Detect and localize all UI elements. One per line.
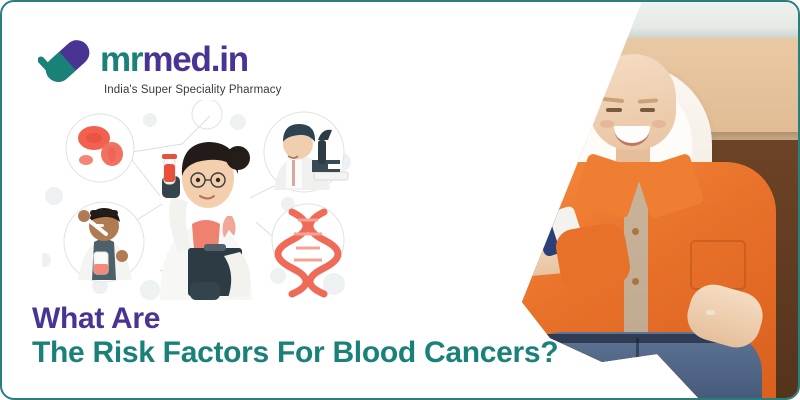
patient-cheek-left: [600, 120, 614, 128]
patient-eye-left: [606, 108, 622, 112]
logo-wordmark: mrmed.in: [100, 42, 248, 77]
power-cable-lower: [451, 152, 460, 242]
logo-tagline: India's Super Speciality Pharmacy: [104, 84, 281, 96]
wall-plate: [400, 90, 413, 110]
shirt-pocket: [690, 240, 746, 290]
iv-tube: [387, 152, 402, 272]
red-blood-cells-circle: [66, 114, 134, 182]
iv-pole: [406, 2, 415, 302]
patient-cheek-right: [652, 120, 666, 128]
finger-ring: [706, 310, 715, 315]
mrmed-blog-banner: mrmed.in India's Super Speciality Pharma…: [0, 0, 800, 400]
headline-line-1: What Are: [32, 302, 558, 336]
power-cable: [472, 32, 491, 163]
headline: What Are The Risk Factors For Blood Canc…: [32, 302, 558, 370]
mrmed-logo[interactable]: mrmed.in India's Super Speciality Pharma…: [38, 38, 278, 100]
center-scientist-figure: [160, 142, 252, 300]
shirt-button-lower: [632, 278, 639, 285]
iv-pole-cap: [400, 2, 421, 11]
wall-upper-band: [2, 2, 798, 38]
iv-tape-strip-2: [508, 242, 517, 260]
iv-tube-lower: [394, 212, 410, 291]
support-towel: [440, 249, 504, 295]
headline-line-2: The Risk Factors For Blood Cancers?: [32, 336, 558, 370]
nurse-mouth: [394, 114, 412, 126]
wall-socket-icon: [510, 20, 538, 48]
lab-technician-pipette-circle: [64, 202, 144, 282]
patient-ear: [584, 102, 597, 120]
nurse-bun: [302, 6, 356, 52]
patient-eye-right: [640, 108, 655, 112]
shirt-button-upper: [632, 228, 639, 235]
nurse-eye: [388, 84, 400, 88]
iv-tape-strip-3: [522, 244, 531, 260]
logo-word-mr: mr: [100, 40, 142, 79]
iv-tape-strip-1: [494, 242, 503, 262]
jeans-seam: [636, 338, 639, 400]
blood-cancer-research-illustration: [42, 100, 362, 300]
microscope-scientist-circle: [264, 112, 348, 192]
illustration-svg: [42, 100, 362, 300]
capsule-check-icon: [38, 38, 96, 84]
logo-word-medin: med.in: [142, 40, 248, 79]
plug-icon: [496, 22, 516, 35]
